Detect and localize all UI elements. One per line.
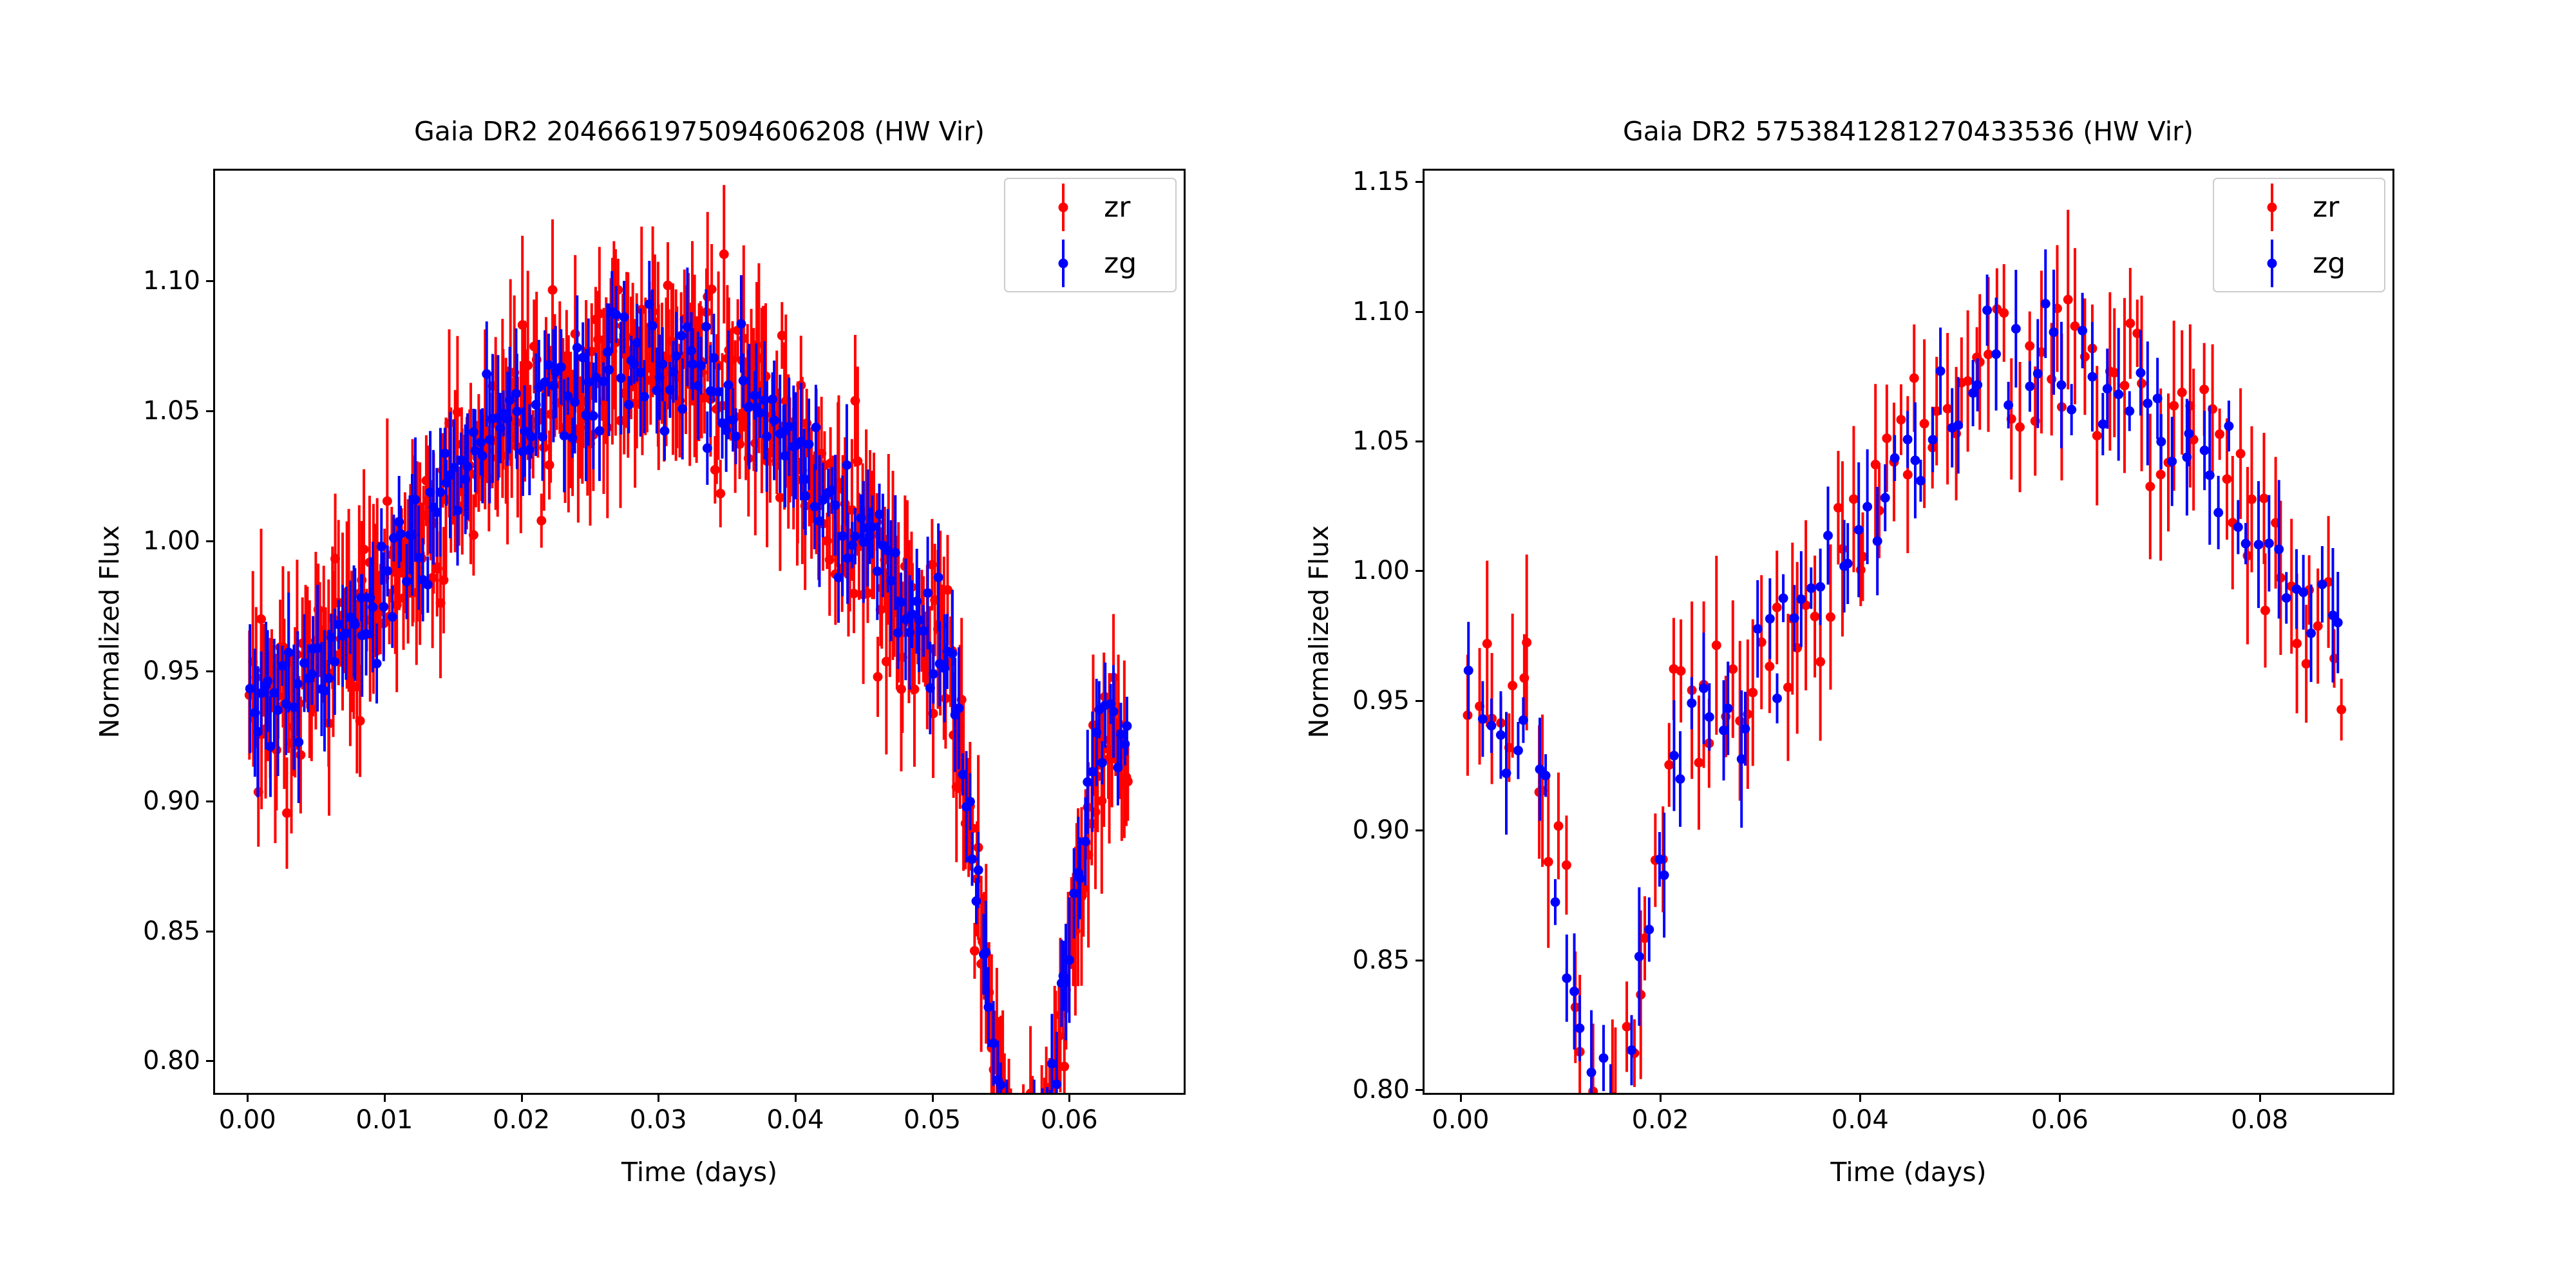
- data-point: [539, 442, 549, 452]
- data-point: [1553, 821, 1563, 831]
- data-point: [435, 488, 445, 497]
- data-point: [2336, 705, 2346, 714]
- data-point: [536, 516, 546, 526]
- data-point: [423, 580, 433, 589]
- x-tick-mark: [932, 1095, 934, 1102]
- data-point: [1920, 419, 1929, 428]
- data-point: [2063, 295, 2073, 305]
- data-point: [648, 321, 658, 330]
- data-point: [1963, 376, 1973, 386]
- panel-right-axes: [1423, 169, 2394, 1095]
- data-point: [2015, 422, 2025, 432]
- y-tick-label: 1.10: [1288, 297, 1410, 327]
- panel-left-legend: zr zg: [1004, 178, 1177, 292]
- data-point: [2136, 368, 2145, 377]
- data-point: [1953, 421, 1963, 430]
- data-point: [1669, 751, 1679, 761]
- data-point: [715, 489, 725, 498]
- panel-right-xlabel: Time (days): [1830, 1157, 1986, 1188]
- x-tick-label: 0.01: [355, 1105, 413, 1135]
- data-point: [770, 415, 779, 425]
- data-point: [523, 361, 533, 370]
- data-point: [350, 620, 360, 629]
- data-point: [750, 390, 760, 400]
- x-tick-label: 0.05: [904, 1105, 961, 1135]
- y-tick-label: 0.90: [1288, 815, 1410, 845]
- data-point: [658, 359, 667, 369]
- data-point: [388, 612, 397, 621]
- data-point: [707, 285, 717, 294]
- y-tick-mark: [1416, 311, 1423, 313]
- x-tick-label: 0.04: [766, 1105, 824, 1135]
- data-point: [1854, 525, 1864, 535]
- data-point: [2260, 605, 2270, 615]
- legend-marker-zr: [1058, 202, 1068, 212]
- data-point: [556, 362, 566, 372]
- x-tick-mark: [1859, 1095, 1861, 1102]
- legend-marker-zg: [1058, 258, 1068, 268]
- x-tick-label: 0.02: [493, 1105, 550, 1135]
- panel-right-title: Gaia DR2 5753841281270433536 (HW Vir): [1264, 116, 2552, 147]
- data-point: [1486, 721, 1496, 730]
- data-point: [1694, 758, 1704, 768]
- y-tick-mark: [1416, 1089, 1423, 1091]
- data-point: [2125, 319, 2135, 328]
- data-point: [616, 374, 626, 383]
- data-point: [687, 346, 696, 355]
- data-point: [2156, 469, 2166, 479]
- data-point: [1753, 624, 1763, 634]
- y-tick-mark: [206, 931, 213, 933]
- data-point: [1779, 593, 1788, 603]
- data-point: [954, 703, 963, 713]
- y-tick-label: 1.15: [1288, 167, 1410, 196]
- legend-entry-zr: zr: [2214, 179, 2384, 235]
- data-point: [245, 684, 255, 694]
- data-point: [755, 408, 764, 417]
- legend-entry-zr: zr: [1005, 179, 1175, 235]
- x-tick-label: 0.04: [1832, 1105, 1889, 1135]
- data-point: [2033, 369, 2043, 379]
- y-tick-label: 0.80: [0, 1046, 200, 1075]
- data-point: [2125, 406, 2134, 416]
- data-point: [1765, 661, 1774, 671]
- series-zg: [1464, 249, 2343, 1093]
- data-point: [701, 322, 711, 332]
- data-point: [947, 649, 957, 658]
- data-point: [1464, 666, 1473, 676]
- data-point: [1544, 857, 1553, 867]
- data-point: [1909, 374, 1919, 383]
- data-point: [2103, 384, 2112, 393]
- data-point: [469, 428, 478, 437]
- data-point: [2184, 429, 2193, 439]
- data-point: [2298, 587, 2308, 597]
- y-tick-label: 1.05: [1288, 426, 1410, 456]
- panel-left-xlabel: Time (days): [621, 1157, 777, 1188]
- data-point: [2264, 538, 2274, 548]
- x-tick-label: 0.06: [1041, 1105, 1098, 1135]
- data-point: [396, 529, 406, 539]
- data-point: [1875, 506, 1884, 515]
- data-point: [2233, 522, 2243, 532]
- data-point: [1748, 688, 1757, 697]
- data-point: [1699, 683, 1709, 693]
- data-point: [909, 685, 919, 694]
- data-point: [1622, 1022, 1632, 1032]
- data-point: [2067, 405, 2076, 415]
- data-point: [1508, 681, 1517, 690]
- data-point: [2056, 380, 2066, 390]
- data-point: [843, 553, 853, 563]
- data-point: [545, 460, 554, 470]
- legend-entry-zg: zg: [2214, 235, 2384, 291]
- data-point: [1599, 1053, 1609, 1063]
- data-point: [1676, 774, 1685, 784]
- y-tick-mark: [206, 280, 213, 282]
- data-point: [2205, 470, 2215, 480]
- data-point: [1896, 415, 1906, 424]
- data-point: [573, 343, 582, 352]
- data-point: [967, 854, 977, 864]
- data-point: [1838, 544, 1848, 554]
- x-tick-label: 0.00: [219, 1105, 276, 1135]
- data-point: [831, 500, 840, 510]
- data-point: [639, 392, 649, 401]
- data-point: [2011, 324, 2021, 334]
- panel-left-ylabel: Normalized Flux: [94, 526, 125, 739]
- x-tick-mark: [1460, 1095, 1462, 1102]
- data-point: [2041, 299, 2050, 308]
- data-point: [453, 506, 462, 515]
- panel-left: Gaia DR2 2046661975094606208 (HW Vir) 0.…: [0, 0, 1288, 1288]
- y-tick-label: 1.10: [0, 266, 200, 296]
- data-point: [525, 445, 535, 455]
- data-point: [1627, 1045, 1636, 1055]
- data-point: [2213, 508, 2223, 518]
- y-tick-label: 0.85: [1288, 945, 1410, 975]
- data-point: [970, 946, 980, 956]
- y-tick-mark: [1416, 570, 1423, 572]
- data-point: [696, 361, 706, 370]
- data-point: [2119, 381, 2129, 390]
- series-zg: [245, 261, 1132, 1093]
- data-point: [2224, 421, 2233, 431]
- data-point: [688, 359, 697, 369]
- y-tick-mark: [206, 800, 213, 802]
- data-point: [2292, 639, 2302, 649]
- y-tick-mark: [206, 410, 213, 412]
- data-point: [2143, 399, 2152, 408]
- data-point: [799, 474, 809, 484]
- data-point: [703, 443, 712, 453]
- data-point: [1109, 706, 1119, 716]
- data-point: [1081, 837, 1090, 846]
- data-point: [981, 947, 990, 957]
- panel-left-data-layer: [215, 171, 1184, 1093]
- panel-right-ylabel: Normalized Flux: [1303, 526, 1334, 739]
- x-tick-label: 0.00: [1432, 1105, 1489, 1135]
- data-point: [1856, 565, 1866, 575]
- data-point: [1636, 990, 1645, 999]
- data-point: [394, 517, 404, 527]
- data-point: [379, 602, 388, 612]
- data-point: [810, 502, 819, 511]
- data-point: [2302, 659, 2311, 668]
- panel-right-data-layer: [1425, 171, 2392, 1093]
- data-point: [1936, 366, 1946, 376]
- data-point: [2087, 372, 2097, 382]
- y-tick-label: 0.90: [0, 786, 200, 816]
- data-point: [719, 249, 729, 259]
- y-tick-mark: [1416, 700, 1423, 702]
- data-point: [1999, 308, 2009, 318]
- x-tick-label: 0.08: [2231, 1105, 2288, 1135]
- data-point: [2200, 446, 2210, 455]
- data-point: [965, 797, 975, 806]
- data-point: [1478, 714, 1488, 724]
- data-point: [263, 676, 272, 686]
- data-point: [974, 866, 983, 875]
- data-point: [850, 531, 860, 541]
- y-tick-label: 1.05: [0, 396, 200, 426]
- data-point: [660, 426, 670, 436]
- data-point: [1806, 583, 1816, 593]
- y-tick-mark: [1416, 181, 1423, 183]
- data-point: [2254, 540, 2264, 549]
- data-point: [613, 285, 623, 295]
- data-point: [2259, 493, 2269, 503]
- data-point: [463, 462, 473, 471]
- y-tick-mark: [1416, 829, 1423, 831]
- data-point: [1728, 664, 1738, 674]
- data-point: [896, 598, 906, 607]
- data-point: [440, 448, 450, 458]
- data-point: [1059, 1062, 1069, 1072]
- data-point: [1513, 746, 1523, 755]
- data-point: [1502, 768, 1511, 778]
- x-tick-mark: [1660, 1095, 1662, 1102]
- data-point: [677, 404, 687, 414]
- data-point: [2276, 573, 2286, 583]
- y-tick-label: 0.80: [1288, 1075, 1410, 1104]
- data-point: [2153, 393, 2163, 403]
- data-point: [1705, 712, 1714, 722]
- data-point: [544, 360, 553, 370]
- data-point: [1562, 860, 1571, 870]
- data-point: [2169, 401, 2179, 411]
- data-point: [377, 542, 386, 551]
- data-point: [934, 573, 943, 582]
- data-point: [736, 319, 746, 328]
- x-tick-mark: [247, 1095, 249, 1102]
- y-tick-mark: [1416, 960, 1423, 961]
- data-point: [2182, 452, 2192, 462]
- data-point: [330, 657, 339, 667]
- data-point: [2241, 539, 2251, 549]
- data-point: [1120, 739, 1130, 749]
- data-point: [739, 376, 748, 386]
- data-point: [1810, 612, 1820, 621]
- data-point: [284, 648, 294, 658]
- data-point: [1522, 638, 1531, 647]
- data-point: [294, 737, 303, 747]
- data-point: [355, 716, 365, 726]
- data-point: [1890, 453, 1900, 463]
- x-tick-mark: [795, 1095, 797, 1102]
- data-point: [1075, 873, 1085, 883]
- data-point: [1097, 758, 1107, 768]
- legend-marker-zr: [2267, 202, 2277, 212]
- data-point: [402, 577, 412, 587]
- data-point: [589, 411, 598, 421]
- x-tick-label: 0.03: [630, 1105, 687, 1135]
- legend-label-zg: zg: [1104, 247, 1137, 279]
- x-tick-mark: [658, 1095, 659, 1102]
- legend-marker-zg: [2267, 258, 2277, 268]
- data-point: [1562, 973, 1571, 983]
- data-point: [762, 431, 772, 441]
- light-curve-figure: Gaia DR2 2046661975094606208 (HW Vir) 0.…: [0, 0, 2576, 1288]
- data-point: [2003, 401, 2013, 410]
- data-point: [1849, 494, 1859, 504]
- data-point: [873, 672, 883, 682]
- data-point: [1823, 531, 1833, 540]
- data-point: [2274, 544, 2284, 554]
- data-point: [1796, 594, 1806, 604]
- data-point: [1862, 502, 1872, 511]
- data-point: [478, 451, 488, 460]
- x-tick-mark: [521, 1095, 523, 1102]
- data-point: [1575, 1023, 1584, 1033]
- data-point: [1482, 639, 1492, 649]
- data-point: [1772, 694, 1782, 703]
- data-point: [594, 426, 604, 436]
- data-point: [2167, 457, 2177, 466]
- data-point: [1991, 349, 2001, 359]
- data-point: [571, 329, 580, 339]
- data-point: [2156, 437, 2166, 446]
- data-point: [359, 545, 369, 554]
- x-tick-mark: [1068, 1095, 1070, 1102]
- data-point: [256, 614, 266, 624]
- data-point: [1065, 955, 1074, 965]
- data-point: [2049, 327, 2059, 337]
- data-point: [604, 365, 614, 375]
- data-point: [624, 400, 634, 410]
- data-point: [804, 439, 814, 449]
- x-tick-mark: [384, 1095, 386, 1102]
- data-point: [1687, 698, 1696, 708]
- data-point: [1123, 777, 1133, 786]
- legend-label-zr: zr: [2313, 191, 2339, 223]
- data-point: [1772, 603, 1782, 612]
- data-point: [867, 522, 877, 532]
- data-point: [1903, 470, 1913, 480]
- data-point: [929, 669, 938, 679]
- data-point: [891, 548, 900, 558]
- data-point: [476, 437, 486, 447]
- data-point: [849, 589, 858, 598]
- data-point: [1790, 613, 1799, 623]
- data-point: [2222, 474, 2232, 484]
- y-tick-label: 0.85: [0, 916, 200, 946]
- data-point: [1903, 435, 1913, 444]
- data-point: [1712, 641, 1721, 650]
- data-point: [1496, 730, 1506, 740]
- data-point: [1826, 612, 1835, 622]
- data-point: [1634, 952, 1644, 961]
- data-point: [383, 566, 392, 576]
- data-point: [996, 1080, 1005, 1090]
- data-point: [710, 465, 720, 475]
- data-point: [1052, 1079, 1061, 1089]
- data-point: [1982, 305, 1992, 315]
- data-point: [410, 495, 420, 504]
- data-point: [469, 530, 478, 540]
- data-point: [1843, 559, 1853, 569]
- data-point: [731, 431, 741, 441]
- data-point: [2247, 495, 2257, 504]
- data-point: [2025, 382, 2034, 392]
- x-tick-label: 0.06: [2031, 1105, 2088, 1135]
- data-point: [1569, 987, 1579, 996]
- data-point: [672, 351, 681, 361]
- data-point: [873, 567, 882, 576]
- data-point: [2078, 326, 2087, 336]
- data-point: [983, 1002, 993, 1012]
- series-zr: [1463, 210, 2346, 1093]
- data-point: [677, 331, 687, 341]
- data-point: [1660, 870, 1669, 880]
- data-point: [2199, 384, 2209, 394]
- legend-label-zg: zg: [2313, 247, 2345, 279]
- data-point: [923, 588, 933, 598]
- data-point: [1735, 716, 1745, 726]
- data-point: [383, 497, 392, 506]
- data-point: [368, 602, 377, 612]
- legend-label-zr: zr: [1104, 191, 1130, 223]
- data-point: [853, 457, 862, 466]
- data-point: [2114, 390, 2123, 399]
- panel-left-title: Gaia DR2 2046661975094606208 (HW Vir): [55, 116, 1343, 147]
- data-point: [2282, 593, 2291, 603]
- data-point: [2215, 430, 2224, 439]
- x-tick-label: 0.02: [1632, 1105, 1689, 1135]
- data-point: [1047, 1059, 1057, 1068]
- data-point: [2317, 580, 2327, 589]
- data-point: [2236, 449, 2246, 459]
- data-point: [709, 353, 719, 363]
- data-point: [2025, 341, 2034, 351]
- data-point: [526, 432, 536, 442]
- legend-entry-zg: zg: [1005, 235, 1175, 291]
- data-point: [1083, 777, 1092, 787]
- y-tick-mark: [1416, 440, 1423, 442]
- data-point: [2313, 621, 2323, 631]
- data-point: [1676, 666, 1686, 676]
- y-tick-mark: [206, 1060, 213, 1062]
- data-point: [768, 395, 777, 404]
- data-point: [1519, 715, 1528, 725]
- data-point: [324, 674, 334, 683]
- data-point: [838, 531, 848, 541]
- data-point: [372, 659, 382, 668]
- data-point: [273, 705, 283, 715]
- data-point: [2177, 388, 2187, 397]
- panel-left-axes: [213, 169, 1186, 1095]
- data-point: [2306, 629, 2316, 638]
